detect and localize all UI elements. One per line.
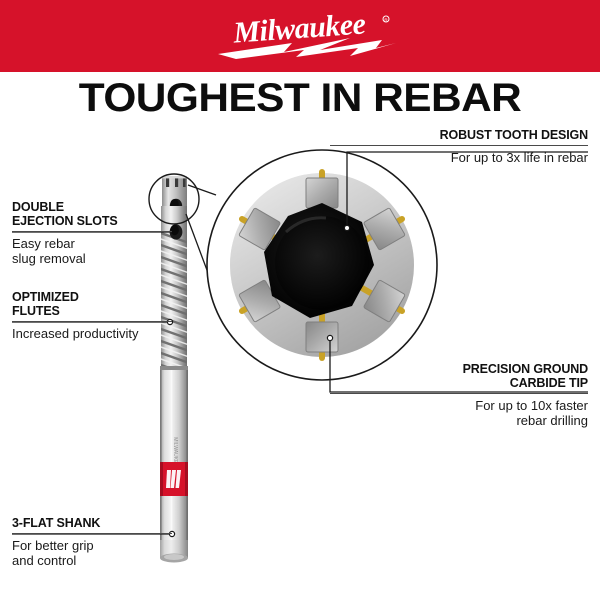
callout-description: For up to 10x faster rebar drilling: [330, 398, 588, 428]
anchor-dot-carbide: [327, 335, 332, 340]
callout-heading: 3-FLAT SHANK: [12, 516, 172, 530]
callout-description: Increased productivity: [12, 326, 172, 341]
anchor-dot-tooth: [344, 225, 349, 230]
callout-rule: [12, 533, 172, 534]
callout-heading: ROBUST TOOTH DESIGN: [330, 128, 588, 142]
callout-rule: [12, 231, 172, 232]
callout-optimized-flutes: OPTIMIZED FLUTES Increased productivity: [12, 290, 172, 341]
callout-rule: [330, 145, 588, 146]
callout-three-flat-shank: 3-FLAT SHANK For better grip and control: [12, 516, 172, 568]
callout-double-ejection-slots: DOUBLE EJECTION SLOTS Easy rebar slug re…: [12, 200, 172, 266]
callout-heading: OPTIMIZED FLUTES: [12, 290, 172, 318]
callout-precision-ground-carbide-tip: PRECISION GROUND CARBIDE TIP For up to 1…: [330, 362, 588, 428]
callout-heading: DOUBLE EJECTION SLOTS: [12, 200, 172, 228]
callout-description: For better grip and control: [12, 538, 172, 568]
callout-description: Easy rebar slug removal: [12, 236, 172, 266]
callout-description: For up to 3x life in rebar: [330, 150, 588, 165]
callout-rule: [12, 321, 172, 322]
callout-rule: [330, 393, 588, 394]
callout-heading: PRECISION GROUND CARBIDE TIP: [330, 362, 588, 390]
callout-robust-tooth-design: ROBUST TOOTH DESIGN For up to 3x life in…: [330, 128, 588, 165]
infographic-canvas: Milwaukee R TOUGHEST IN REBAR: [0, 0, 600, 600]
